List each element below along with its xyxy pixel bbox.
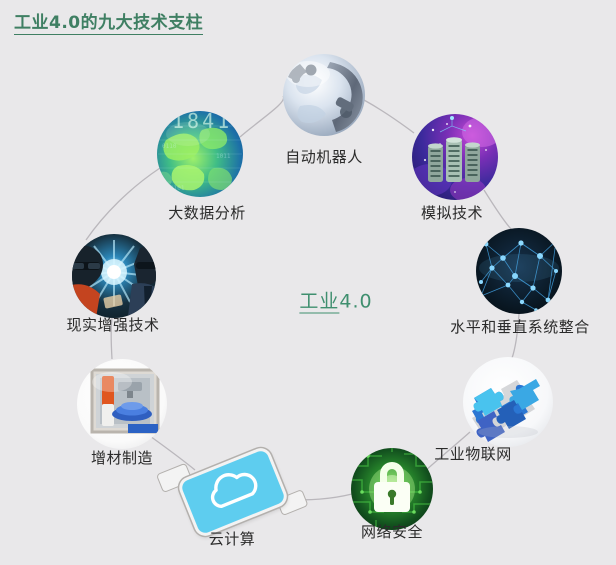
connector-simulation-integration [484,190,512,230]
node-system-integration[interactable] [476,228,562,314]
caption-cloud-computing: 云计算 [209,528,256,549]
caption-cybersecurity: 网络安全 [361,521,423,542]
caption-autonomous-robots: 自动机器人 [285,146,363,167]
diagram-canvas: 1841 0110 1011 0101 [0,0,616,565]
center-label: 工业4.0 [299,287,372,314]
connector-cloud-additive [150,436,195,470]
caption-big-data-analytics: 大数据分析 [168,202,246,223]
node-simulation[interactable] [408,114,502,202]
page-title: 工业4.0的九大技术支柱 [14,8,203,35]
caption-system-integration: 水平和垂直系统整合 [450,316,590,337]
connector-bigdata-robots [240,96,284,137]
connector-robots-simulation [364,100,414,133]
node-big-data-analytics[interactable]: 1841 0110 1011 0101 [154,109,243,197]
svg-text:0101: 0101 [170,185,185,192]
connector-ar-bigdata [86,168,160,240]
caption-simulation: 模拟技术 [421,202,483,223]
node-additive-manufacturing[interactable] [77,359,167,449]
caption-industrial-iot: 工业物联网 [434,443,512,464]
svg-text:1011: 1011 [216,153,231,160]
node-augmented-reality[interactable] [64,234,165,318]
center-label-cjk: 工业 [299,291,339,314]
svg-text:0110: 0110 [162,143,177,150]
center-label-num: 4.0 [339,291,372,313]
caption-additive-manufacturing: 增材制造 [91,447,153,468]
caption-augmented-reality: 现实增强技术 [66,314,159,335]
node-autonomous-robots[interactable] [283,54,365,136]
node-industrial-iot[interactable] [463,357,553,447]
